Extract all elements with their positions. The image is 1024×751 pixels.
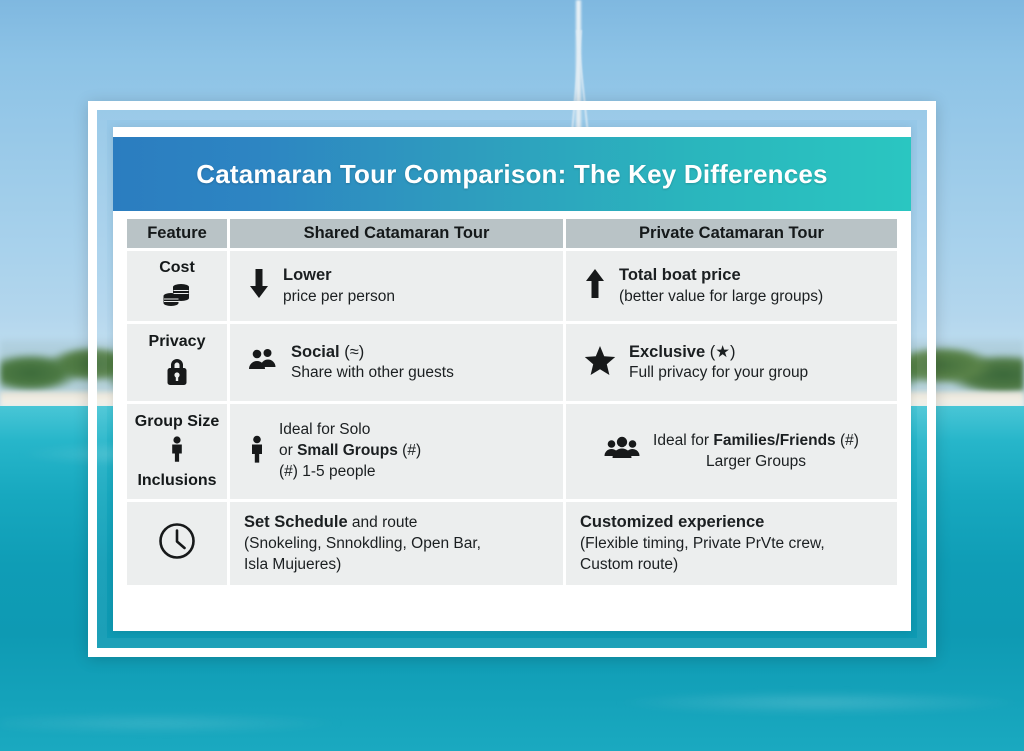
private-inclusions-text: Customized experience (Flexible timing, … [580,511,825,575]
private-cost-line2: (better value for large groups) [619,287,823,308]
private-group-line1: Ideal for Families/Friends (#) [653,431,859,452]
shared-cell-group-size: Ideal for Solo or Small Groups (#) (#) 1… [230,404,563,499]
shared-inclusions-text: Set Schedule and route (Snokeling, Snnok… [244,511,481,576]
arrow-up-icon [584,269,606,304]
private-privacy-line1: Exclusive (★) [629,341,808,363]
shared-cost-line2: price per person [283,287,395,308]
private-group-line1-strong: Families/Friends [713,432,835,449]
shared-privacy-text: Social (≈) Share with other guests [291,341,454,384]
clock-icon [157,521,197,566]
shared-privacy-symbol: (≈) [344,343,364,361]
person-icon [248,435,266,468]
private-privacy-text: Exclusive (★) Full privacy for your grou… [629,341,808,384]
shared-inclusions-rest: and route [348,514,418,531]
private-group-line1-prefix: Ideal for [653,432,713,449]
coins-icon [162,282,192,313]
feature-cell-schedule [127,502,227,585]
shared-cell-inclusions: Set Schedule and route (Snokeling, Snnok… [230,502,563,585]
title-banner: Catamaran Tour Comparison: The Key Diffe… [113,137,911,211]
table-row: Cost [127,251,897,321]
shared-inclusions-line1: Set Schedule and route [244,511,481,534]
private-cost-line1: Total boat price [619,264,823,286]
private-inclusions-line1: Customized experience [580,511,825,533]
shared-group-line2: or Small Groups (#) [279,441,421,462]
shared-privacy-line2: Share with other guests [291,363,454,384]
shared-cost-line1: Lower [283,264,395,286]
star-icon [584,345,616,380]
private-privacy-symbol: (★) [710,343,736,361]
arrow-down-icon [248,269,270,304]
private-group-line2: Larger Groups [653,452,859,473]
feature-label: Cost [159,259,195,277]
private-cell-cost: Total boat price (better value for large… [566,251,897,321]
shared-privacy-line1: Social (≈) [291,341,454,363]
private-inclusions-line3: Custom route) [580,555,825,576]
private-cell-group-size: Ideal for Families/Friends (#) Larger Gr… [566,404,897,499]
two-people-icon [248,347,278,378]
private-group-text: Ideal for Families/Friends (#) Larger Gr… [653,431,859,473]
feature-cell-group-size: Group Size Inclusions [127,404,227,499]
comparison-table: Feature Shared Catamaran Tour Private Ca… [127,219,897,588]
private-cost-text: Total boat price (better value for large… [619,264,823,307]
private-inclusions-line2: (Flexible timing, Private PrVte crew, [580,534,825,555]
column-header-private: Private Catamaran Tour [566,219,897,248]
private-privacy-term: Exclusive [629,343,705,361]
private-cell-inclusions: Customized experience (Flexible timing, … [566,502,897,585]
shared-cost-text: Lower price per person [283,264,395,307]
private-privacy-line2: Full privacy for your group [629,363,808,384]
shared-inclusions-line2: (Snokeling, Snnokdling, Open Bar, [244,534,481,555]
shared-group-line2-suffix: (#) [398,442,421,459]
feature-cell-privacy: Privacy [127,324,227,401]
shared-group-line2-strong: Small Groups [297,442,398,459]
table-row: Privacy [127,324,897,401]
feature-cell-cost: Cost [127,251,227,321]
column-header-shared: Shared Catamaran Tour [230,219,563,248]
shared-group-line3: (#) 1-5 people [279,462,421,483]
shared-group-text: Ideal for Solo or Small Groups (#) (#) 1… [279,420,421,483]
person-icon [168,436,186,467]
private-group-line1-suffix: (#) [836,432,859,449]
shared-group-line1: Ideal for Solo [279,420,421,441]
lock-icon [164,355,190,392]
shared-cell-cost: Lower price per person [230,251,563,321]
private-cell-privacy: Exclusive (★) Full privacy for your grou… [566,324,897,401]
feature-label: Privacy [149,333,206,351]
column-header-feature: Feature [127,219,227,248]
page-title: Catamaran Tour Comparison: The Key Diffe… [156,159,867,190]
comparison-card: Catamaran Tour Comparison: The Key Diffe… [113,127,911,631]
feature-label-group-size: Group Size [135,413,219,431]
shared-inclusions-strong: Set Schedule [244,513,348,531]
shared-inclusions-line3: Isla Mujueres) [244,555,481,576]
feature-label-inclusions: Inclusions [137,472,216,490]
group-icon [604,435,640,468]
shared-cell-privacy: Social (≈) Share with other guests [230,324,563,401]
shared-privacy-term: Social [291,343,340,361]
shared-group-line2-prefix: or [279,442,297,459]
table-row: Set Schedule and route (Snokeling, Snnok… [127,502,897,585]
table-header-row: Feature Shared Catamaran Tour Private Ca… [127,219,897,248]
table-row: Group Size Inclusions Ideal [127,404,897,499]
